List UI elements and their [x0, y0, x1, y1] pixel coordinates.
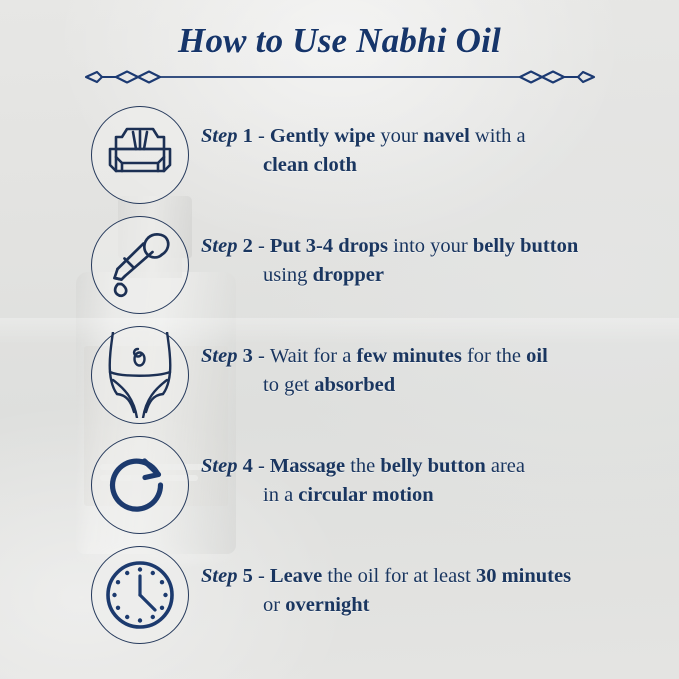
icon-circle: [91, 216, 189, 314]
step-dash: -: [258, 345, 265, 367]
step-icon-container: [85, 320, 195, 430]
step-number: 5: [243, 565, 253, 587]
step-text: Step 4 - Massage the belly button area i…: [195, 430, 679, 510]
step-text: Step 3 - Wait for a few minutes for the …: [195, 320, 679, 400]
step-row: Step 5 - Leave the oil for at least 30 m…: [0, 540, 679, 650]
icon-circle: [91, 436, 189, 534]
step-number: 2: [243, 235, 253, 257]
step-text: Step 2 - Put 3-4 drops into your belly b…: [195, 210, 679, 290]
step-number: 1: [243, 125, 253, 147]
step-label: Step: [201, 125, 237, 147]
step-description-line1: Put 3-4 drops into your belly button: [270, 235, 578, 257]
step-icon-container: [85, 100, 195, 210]
step-icon-container: [85, 210, 195, 320]
steps-list: Step 1 - Gently wipe your navel with a c…: [0, 100, 679, 650]
dropper-icon: [108, 232, 172, 298]
step-dash: -: [258, 125, 265, 147]
step-label: Step: [201, 345, 237, 367]
step-description-line1: Massage the belly button area: [270, 455, 525, 477]
step-number: 3: [243, 345, 253, 367]
icon-circle: [91, 106, 189, 204]
step-dash: -: [258, 235, 265, 257]
step-description-line2: using dropper: [201, 261, 669, 290]
infographic-page: How to Use Nabhi Oil: [0, 0, 679, 679]
page-title: How to Use Nabhi Oil: [0, 22, 679, 61]
step-description-line2: clean cloth: [201, 151, 669, 180]
step-text: Step 5 - Leave the oil for at least 30 m…: [195, 540, 679, 620]
step-label: Step: [201, 235, 237, 257]
step-row: Step 3 - Wait for a few minutes for the …: [0, 320, 679, 430]
step-icon-container: [85, 430, 195, 540]
belly-torso-icon: [101, 332, 179, 418]
header: How to Use Nabhi Oil: [0, 22, 679, 88]
step-row: Step 1 - Gently wipe your navel with a c…: [0, 100, 679, 210]
icon-circle: [91, 546, 189, 644]
step-description-line1: Gently wipe your navel with a: [270, 125, 526, 147]
step-description-line2: in a circular motion: [201, 481, 669, 510]
circular-arrow-icon: [108, 453, 172, 517]
step-dash: -: [258, 565, 265, 587]
step-number: 4: [243, 455, 253, 477]
step-dash: -: [258, 455, 265, 477]
clock-icon: [104, 559, 176, 631]
ornamental-divider-icon: [0, 66, 679, 88]
step-text: Step 1 - Gently wipe your navel with a c…: [195, 100, 679, 180]
step-description-line1: Wait for a few minutes for the oil: [270, 345, 548, 367]
tissue-box-icon: [106, 125, 174, 185]
step-description-line2: or overnight: [201, 591, 669, 620]
step-description-line1: Leave the oil for at least 30 minutes: [270, 565, 571, 587]
step-label: Step: [201, 565, 237, 587]
step-row: Step 4 - Massage the belly button area i…: [0, 430, 679, 540]
icon-circle: [91, 326, 189, 424]
step-description-line2: to get absorbed: [201, 371, 669, 400]
step-label: Step: [201, 455, 237, 477]
step-icon-container: [85, 540, 195, 650]
step-row: Step 2 - Put 3-4 drops into your belly b…: [0, 210, 679, 320]
